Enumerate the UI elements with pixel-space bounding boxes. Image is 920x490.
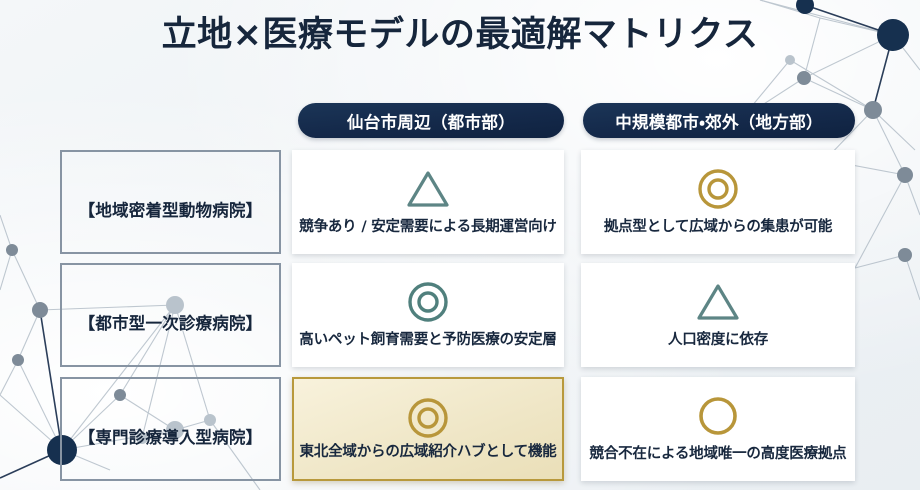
row-label-specialty-care: 【専門診療導入型病院】 — [60, 377, 281, 481]
matrix-cell-r1c1-text: 競争あり / 安定需要による長期運営向け — [292, 215, 564, 236]
triangle-icon — [581, 277, 855, 327]
matrix-cell-r2c2: 人口密度に依存 — [581, 263, 855, 367]
double-circle-icon — [292, 277, 564, 327]
column-header-urban-label: 仙台市周辺（都市部） — [347, 109, 515, 133]
matrix-cell-r1c1: 競争あり / 安定需要による長期運営向け — [292, 150, 564, 254]
slide-canvas: 立地×医療モデルの最適解マトリクス 仙台市周辺（都市部） 中規模都市・郊外（地方… — [0, 0, 920, 490]
matrix-cell-r2c2-text: 人口密度に依存 — [581, 328, 855, 349]
matrix-cell-r2c1: 高いペット飼育需要と予防医療の安定層 — [292, 263, 564, 367]
row-label-text: 【専門診療導入型病院】 — [79, 424, 263, 448]
row-label-urban-primary-care: 【都市型一次診療病院】 — [60, 263, 281, 367]
row-label-community-hospital: 【地域密着型動物病院】 — [60, 150, 281, 254]
row-label-text: 【都市型一次診療病院】 — [79, 310, 263, 334]
double-circle-icon — [294, 393, 562, 443]
column-header-regional-label: 中規模都市・郊外（地方部） — [615, 109, 823, 133]
triangle-icon — [292, 164, 564, 214]
matrix-cell-r3c2-text: 競合不在による地域唯一の高度医療拠点 — [581, 442, 855, 463]
matrix-cell-r3c1-highlighted: 東北全域からの広域紹介ハブとして機能 — [292, 377, 564, 481]
row-label-text: 【地域密着型動物病院】 — [79, 197, 263, 221]
page-title: 立地×医療モデルの最適解マトリクス — [0, 14, 920, 56]
matrix-cell-r1c2: 拠点型として広域からの集患が可能 — [581, 150, 855, 254]
matrix-cell-r3c1-text: 東北全域からの広域紹介ハブとして機能 — [294, 440, 562, 461]
column-header-urban: 仙台市周辺（都市部） — [298, 103, 564, 138]
matrix-cell-r3c2: 競合不在による地域唯一の高度医療拠点 — [581, 377, 855, 481]
column-header-regional: 中規模都市・郊外（地方部） — [583, 103, 855, 138]
matrix-cell-r2c1-text: 高いペット飼育需要と予防医療の安定層 — [292, 328, 564, 349]
circle-icon — [581, 391, 855, 441]
double-circle-icon — [581, 164, 855, 214]
matrix-cell-r1c2-text: 拠点型として広域からの集患が可能 — [581, 215, 855, 236]
